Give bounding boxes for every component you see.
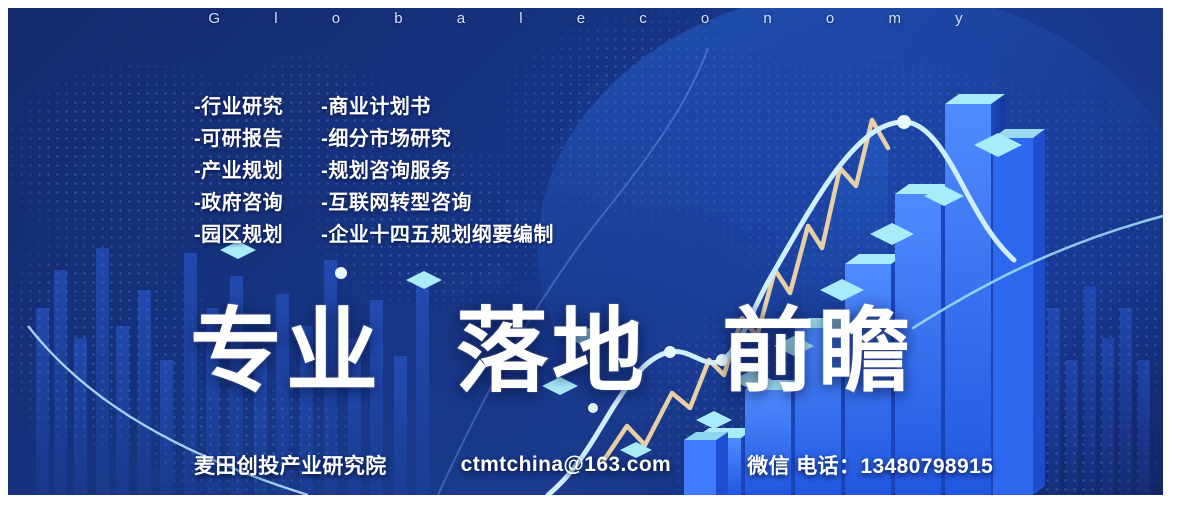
headline-word-2: 落地 [456,304,648,400]
service-item: -园区规划 [194,222,283,249]
service-item: -细分市场研究 [321,126,554,153]
promo-banner: G l o b a l e c o n o m y -行业研究 -可研报告 -产… [8,8,1163,495]
service-lists: -行业研究 -可研报告 -产业规划 -政府咨询 -园区规划 -商业计划书 -细分… [194,94,554,249]
organization-name: 麦田创投产业研究院 [194,450,387,480]
curve-node [897,115,911,129]
service-item: -行业研究 [194,94,283,121]
service-item: -政府咨询 [194,190,283,217]
service-item: -企业十四五规划纲要编制 [321,222,554,249]
headline-slogan: 专业 落地 前瞻 [190,304,914,400]
curve-node [588,403,598,413]
service-column-right: -商业计划书 -细分市场研究 -规划咨询服务 -互联网转型咨询 -企业十四五规划… [321,94,554,249]
service-item: -商业计划书 [321,94,554,121]
service-item: -产业规划 [194,158,283,185]
curve-node [335,267,347,279]
service-item: -可研报告 [194,126,283,153]
headline-word-3: 前瞻 [722,304,914,400]
service-item: -规划咨询服务 [321,158,554,185]
contact-phone: 微信 电话：13480798915 [747,450,993,480]
service-item: -互联网转型咨询 [321,190,554,217]
kicker-global-economy: G l o b a l e c o n o m y [8,10,1163,27]
headline-word-1: 专业 [190,304,382,400]
chart-artwork [8,8,1163,495]
footer-contact-row: 麦田创投产业研究院 ctmtchina@163.com 微信 电话：134807… [194,450,993,480]
contact-email[interactable]: ctmtchina@163.com [461,453,672,477]
diamond-marker [406,271,442,289]
bar-7 [993,129,1045,495]
service-column-left: -行业研究 -可研报告 -产业规划 -政府咨询 -园区规划 [194,94,283,249]
